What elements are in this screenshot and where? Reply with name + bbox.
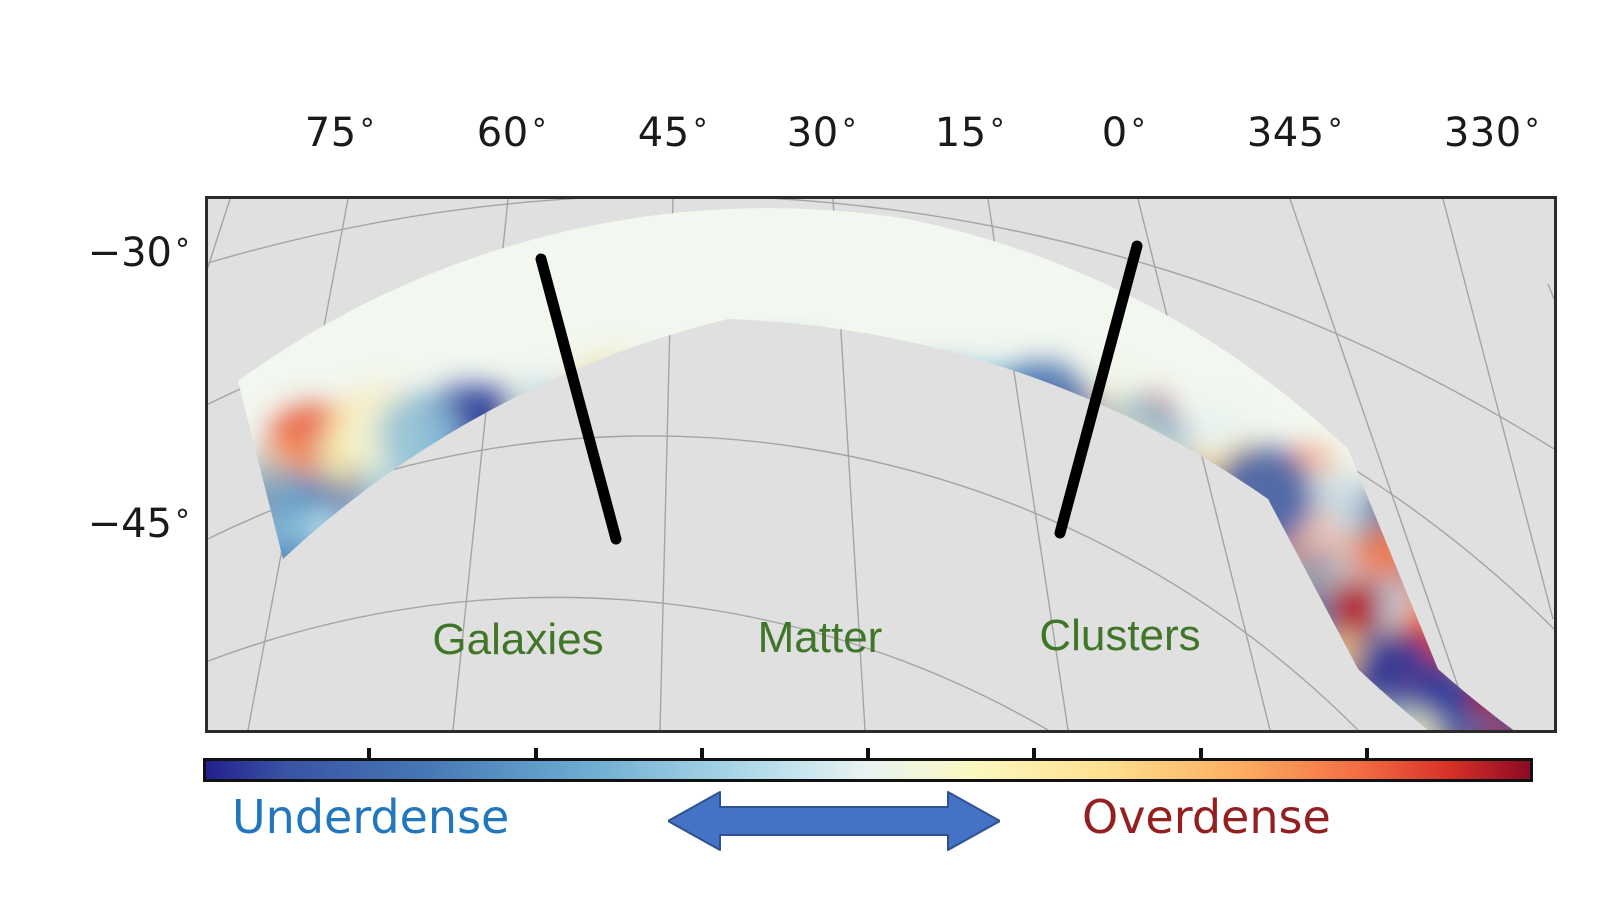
density-colorbar — [203, 758, 1533, 782]
region-labels: Galaxies Matter Clusters — [432, 611, 1200, 664]
lon-tick-label-75: 75° — [305, 110, 375, 156]
overdense-label: Overdense — [1082, 790, 1331, 844]
lon-tick-label-30: 30° — [787, 110, 857, 156]
lon-tick-label-330: 330° — [1444, 110, 1540, 156]
region-label-galaxies: Galaxies — [432, 615, 603, 664]
lon-tick-label-15: 15° — [935, 110, 1005, 156]
lon-tick-label-345: 345° — [1247, 110, 1343, 156]
lat-tick-label-minus45: −45° — [88, 501, 190, 547]
lon-tick-label-45: 45° — [638, 110, 708, 156]
underdense-label: Underdense — [232, 790, 509, 844]
lon-tick-label-0: 0° — [1102, 110, 1146, 156]
sky-density-map-figure: 75° 60° 45° 30° 15° 0° 345° 330° −30° −4… — [0, 0, 1600, 900]
map-plot-area: Galaxies Matter Clusters — [205, 196, 1557, 733]
region-label-clusters: Clusters — [1039, 611, 1200, 660]
region-label-matter: Matter — [758, 613, 883, 662]
colorbar-container — [203, 748, 1533, 782]
double-headed-arrow-icon — [668, 788, 1000, 854]
lon-tick-label-60: 60° — [477, 110, 547, 156]
lat-tick-label-minus30: −30° — [88, 230, 190, 276]
double-headed-arrow-container — [668, 788, 1000, 854]
map-canvas: Galaxies Matter Clusters — [208, 199, 1554, 730]
